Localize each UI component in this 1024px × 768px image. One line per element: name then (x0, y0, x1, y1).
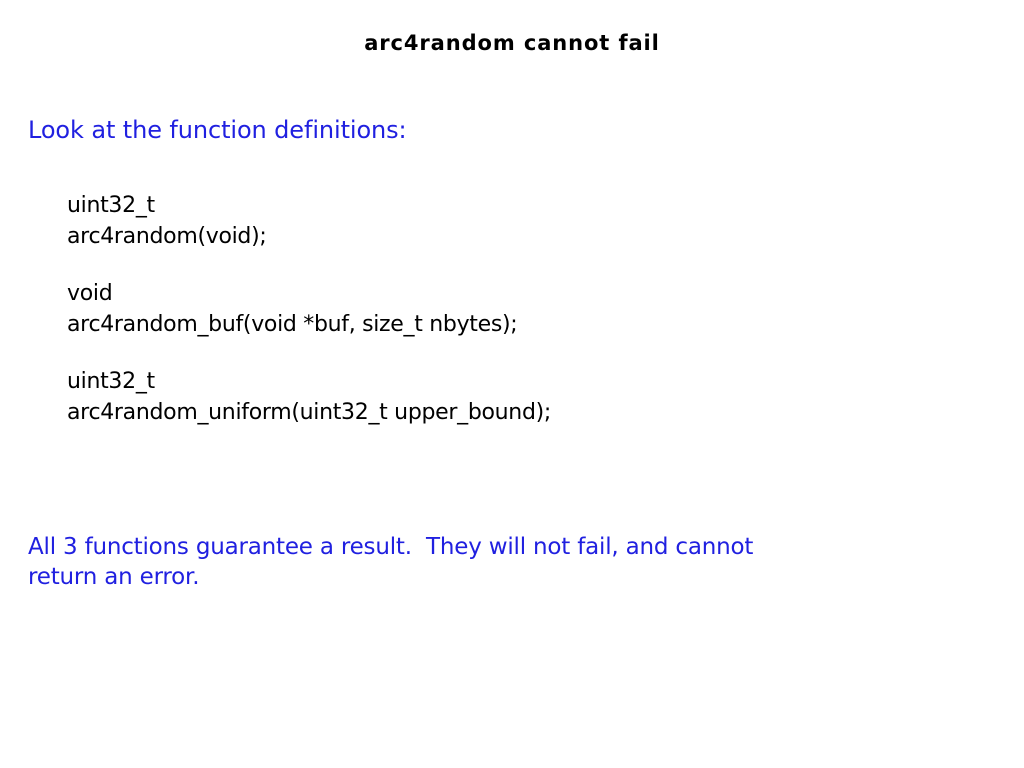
function-prototype-arc4random: uint32_t arc4random(void); (67, 190, 967, 252)
return-type-line: uint32_t (67, 190, 967, 221)
function-prototype-arc4random-uniform: uint32_t arc4random_uniform(uint32_t upp… (67, 366, 967, 428)
signature-line: arc4random(void); (67, 221, 967, 252)
return-type-line: void (67, 278, 967, 309)
function-prototype-arc4random-buf: void arc4random_buf(void *buf, size_t nb… (67, 278, 967, 340)
summary-line-2: return an error. (28, 562, 928, 592)
summary-paragraph: All 3 functions guarantee a result. They… (28, 532, 928, 592)
return-type-line: uint32_t (67, 366, 967, 397)
page-title: arc4random cannot fail (0, 30, 1024, 56)
slide-canvas: arc4random cannot fail Look at the funct… (0, 0, 1024, 768)
signature-line: arc4random_buf(void *buf, size_t nbytes)… (67, 309, 967, 340)
signature-line: arc4random_uniform(uint32_t upper_bound)… (67, 397, 967, 428)
function-definitions-list: uint32_t arc4random(void); void arc4rand… (67, 190, 967, 428)
summary-line-1: All 3 functions guarantee a result. They… (28, 532, 928, 562)
section-heading: Look at the function definitions: (28, 115, 407, 145)
